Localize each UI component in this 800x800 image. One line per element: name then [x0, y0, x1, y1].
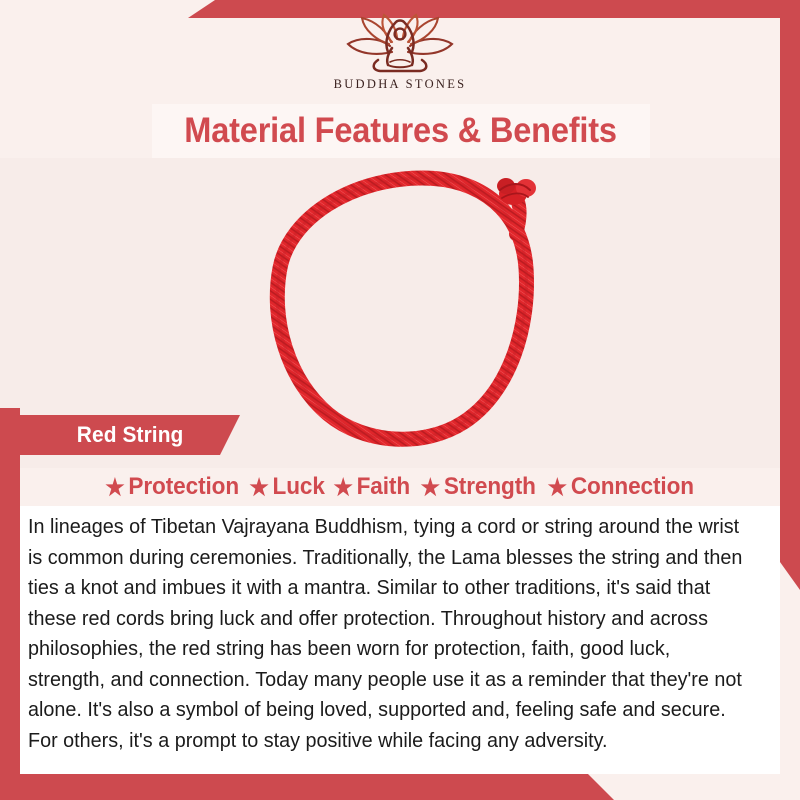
feature-item-strength: ★ Strength [421, 473, 536, 501]
feature-item-connection: ★ Connection [548, 473, 694, 501]
feature-label: Connection [571, 473, 694, 501]
description-text: In lineages of Tibetan Vajrayana Buddhis… [28, 512, 744, 756]
red-braided-string-bracelet-icon [254, 164, 584, 454]
feature-item-luck: ★ Luck [250, 473, 325, 501]
star-icon: ★ [250, 476, 269, 499]
poster-canvas: BUDDHA STONES Material Features & Benefi… [0, 0, 800, 800]
page-title: Material Features & Benefits [185, 111, 618, 151]
feature-label: Luck [273, 473, 325, 501]
star-icon: ★ [548, 476, 567, 499]
description-panel: In lineages of Tibetan Vajrayana Buddhis… [20, 506, 780, 774]
feature-item-protection: ★ Protection [105, 473, 239, 501]
material-tag-label: Red String [77, 422, 184, 448]
brand-header: BUDDHA STONES [0, 0, 800, 104]
feature-label: Protection [128, 473, 239, 501]
feature-item-faith: ★ Faith [334, 473, 411, 501]
star-icon: ★ [421, 476, 440, 499]
feature-label: Faith [357, 473, 410, 501]
star-icon: ★ [105, 476, 124, 499]
brand-logo: BUDDHA STONES [300, 12, 500, 92]
decor-bottom-bar [0, 774, 800, 800]
feature-label: Strength [444, 473, 536, 501]
decor-left-strip [0, 408, 20, 800]
brand-wordmark: BUDDHA STONES [334, 77, 467, 92]
material-tag: Red String [20, 415, 240, 455]
feature-list: ★ Protection ★ Luck ★ Faith ★ Strength ★… [0, 468, 800, 506]
star-icon: ★ [334, 476, 353, 499]
lotus-meditation-icon [332, 12, 468, 74]
title-banner: Material Features & Benefits [152, 104, 650, 158]
